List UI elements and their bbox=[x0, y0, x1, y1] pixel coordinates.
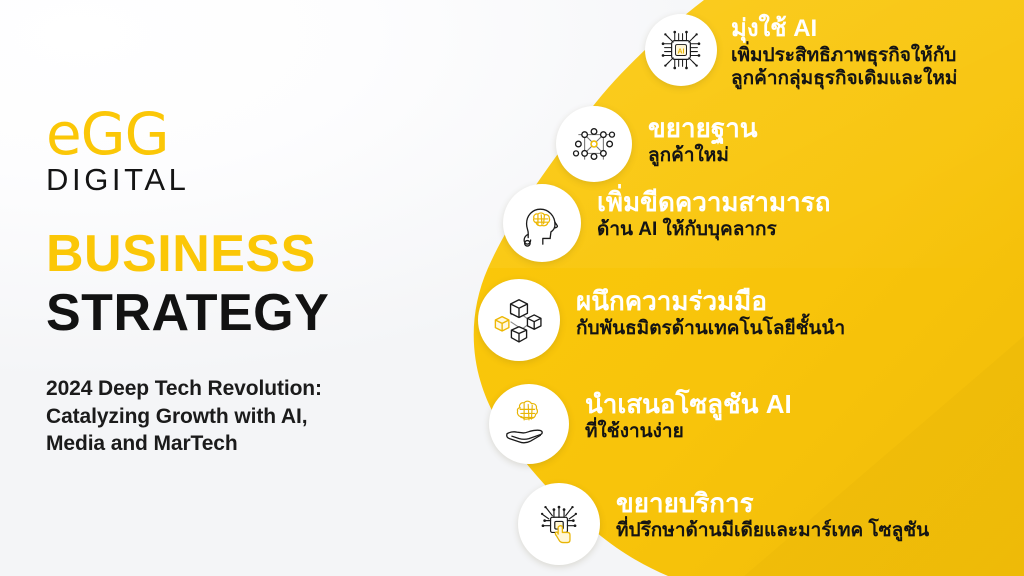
strategy-item-2-sub-line-1: ลูกค้าใหม่ bbox=[648, 144, 758, 167]
strategy-item-6-heading: ขยายบริการ bbox=[616, 489, 929, 518]
strategy-item-1: AI มุ่งใช้ AI เพิ่มประสิทธิภาพธุรกิจให้ก… bbox=[645, 14, 957, 90]
strategy-item-4-sub: กับพันธมิตรด้านเทคโนโลยีชั้นนำ bbox=[576, 317, 845, 340]
strategy-item-4-sub-line-1: กับพันธมิตรด้านเทคโนโลยีชั้นนำ bbox=[576, 317, 845, 340]
strategy-item-4-text: ผนึกความร่วมมือ กับพันธมิตรด้านเทคโนโลยี… bbox=[560, 279, 845, 340]
strategy-item-3-sub: ด้าน AI ให้กับบุคลากร bbox=[597, 218, 830, 241]
strategy-item-6-badge bbox=[518, 483, 600, 565]
strategy-items-list: AI มุ่งใช้ AI เพิ่มประสิทธิภาพธุรกิจให้ก… bbox=[0, 0, 1024, 576]
strategy-item-6: ขยายบริการ ที่ปรึกษาด้านมีเดียและมาร์เทค… bbox=[518, 483, 929, 565]
strategy-item-5-text: นำเสนอโซลูชัน AI ที่ใช้งานง่าย bbox=[569, 384, 792, 443]
strategy-item-2: ขยายฐาน ลูกค้าใหม่ bbox=[556, 106, 758, 182]
strategy-item-4-heading: ผนึกความร่วมมือ bbox=[576, 287, 845, 316]
blockchain-cubes-icon bbox=[492, 293, 546, 347]
ai-chip-icon: AI bbox=[656, 25, 706, 75]
strategy-item-1-sub: เพิ่มประสิทธิภาพธุรกิจให้กับ ลูกค้ากลุ่ม… bbox=[731, 44, 957, 90]
head-brain-headset-icon bbox=[516, 197, 568, 249]
strategy-item-2-badge bbox=[556, 106, 632, 182]
strategy-item-6-sub-line-1: ที่ปรึกษาด้านมีเดียและมาร์เทค โซลูชัน bbox=[616, 519, 929, 542]
strategy-item-1-text: มุ่งใช้ AI เพิ่มประสิทธิภาพธุรกิจให้กับ … bbox=[717, 14, 957, 90]
strategy-item-1-heading: มุ่งใช้ AI bbox=[731, 16, 957, 43]
strategy-item-3: เพิ่มขีดความสามารถ ด้าน AI ให้กับบุคลากร bbox=[503, 184, 830, 262]
strategy-item-6-text: ขยายบริการ ที่ปรึกษาด้านมีเดียและมาร์เทค… bbox=[600, 483, 929, 542]
strategy-item-6-sub: ที่ปรึกษาด้านมีเดียและมาร์เทค โซลูชัน bbox=[616, 519, 929, 542]
strategy-item-4-badge bbox=[478, 279, 560, 361]
strategy-item-3-sub-line-1: ด้าน AI ให้กับบุคลากร bbox=[597, 218, 830, 241]
strategy-item-3-text: เพิ่มขีดความสามารถ ด้าน AI ให้กับบุคลากร bbox=[581, 184, 830, 241]
strategy-item-4: ผนึกความร่วมมือ กับพันธมิตรด้านเทคโนโลยี… bbox=[478, 279, 845, 361]
strategy-item-5-heading: นำเสนอโซลูชัน AI bbox=[585, 390, 792, 419]
strategy-item-1-sub-line-1: เพิ่มประสิทธิภาพธุรกิจให้กับ bbox=[731, 44, 957, 67]
strategy-item-5-sub-line-1: ที่ใช้งานง่าย bbox=[585, 420, 792, 443]
strategy-item-5: นำเสนอโซลูชัน AI ที่ใช้งานง่าย bbox=[489, 384, 792, 464]
strategy-item-2-heading: ขยายฐาน bbox=[648, 114, 758, 143]
strategy-item-2-sub: ลูกค้าใหม่ bbox=[648, 144, 758, 167]
strategy-item-1-badge: AI bbox=[645, 14, 717, 86]
hand-holding-brain-icon bbox=[503, 398, 555, 450]
slide-canvas: eGG DIGITAL BUSINESS STRATEGY 2024 Deep … bbox=[0, 0, 1024, 576]
strategy-item-5-badge bbox=[489, 384, 569, 464]
strategy-item-1-sub-line-2: ลูกค้ากลุ่มธุรกิจเดิมและใหม่ bbox=[731, 67, 957, 90]
strategy-item-5-sub: ที่ใช้งานง่าย bbox=[585, 420, 792, 443]
strategy-item-3-badge bbox=[503, 184, 581, 262]
network-nodes-icon bbox=[569, 119, 619, 169]
strategy-item-2-text: ขยายฐาน ลูกค้าใหม่ bbox=[632, 106, 758, 167]
strategy-item-3-heading: เพิ่มขีดความสามารถ bbox=[597, 188, 830, 217]
chip-touch-icon bbox=[532, 497, 586, 551]
ai-chip-icon-label: AI bbox=[677, 49, 684, 56]
